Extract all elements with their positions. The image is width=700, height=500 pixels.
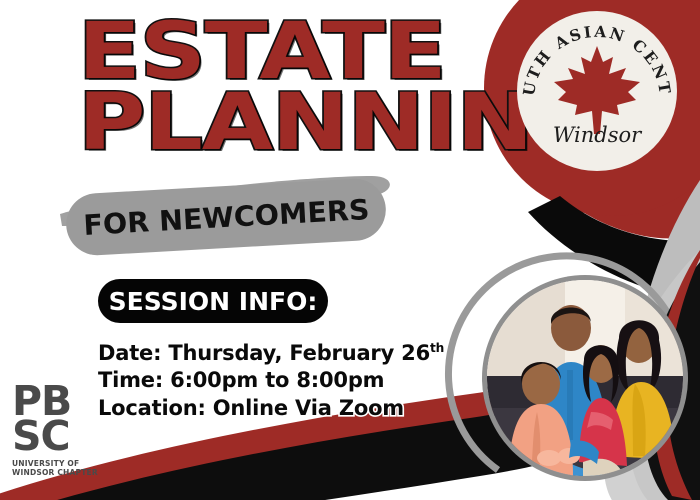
pbsc-logo: PB SC UNIVERSITY OF WINDSOR CHAPTER (12, 384, 98, 477)
pbsc-logo-subtitle: UNIVERSITY OF WINDSOR CHAPTER (12, 459, 98, 477)
detail-date-text: Date: Thursday, February 26 (98, 341, 430, 365)
poster-headline: ESTATE PLANNING (78, 18, 548, 157)
session-details: Date: Thursday, February 26th Time: 6:00… (98, 340, 444, 422)
south-asian-centre-logo: SOUTH ASIAN CENTRE Windsor (514, 8, 680, 174)
detail-line-location: Location: Online Via Zoom (98, 395, 444, 422)
pbsc-logo-subtitle-line-2: WINDSOR CHAPTER (12, 468, 98, 477)
detail-line-time: Time: 6:00pm to 8:00pm (98, 367, 444, 394)
family-photo-illustration (487, 280, 683, 476)
detail-date-ordinal-suffix: th (430, 341, 444, 355)
session-info-pill: SESSION INFO: (98, 279, 328, 323)
poster-canvas: ESTATE PLANNING FOR NEWCOMERS SESSION IN… (0, 0, 700, 500)
pbsc-logo-line-2: SC (12, 419, 98, 454)
audience-pill-label: FOR NEWCOMERS (82, 193, 370, 242)
sac-logo-script-text: Windsor (553, 123, 643, 147)
session-info-pill-label: SESSION INFO: (109, 287, 318, 316)
detail-line-date: Date: Thursday, February 26th (98, 340, 444, 367)
audience-pill: FOR NEWCOMERS (65, 177, 388, 257)
family-photo (487, 280, 683, 476)
pbsc-logo-subtitle-line-1: UNIVERSITY OF (12, 459, 98, 468)
